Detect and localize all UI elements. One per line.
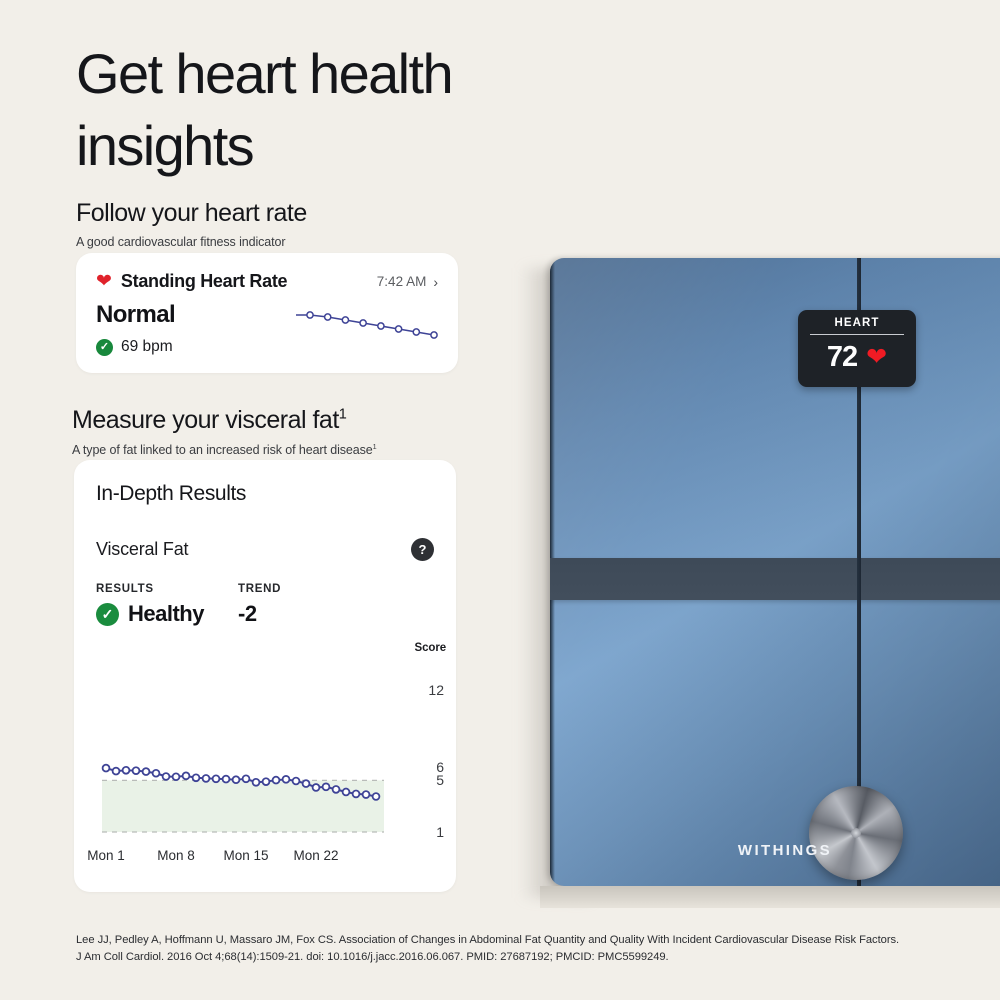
heart-rate-card-meta[interactable]: 7:42 AM ›: [377, 274, 438, 289]
visceral-fat-title-footnote-marker: 1: [339, 407, 347, 423]
heart-rate-card-header: ❤ Standing Heart Rate 7:42 AM ›: [96, 271, 438, 292]
check-circle-icon: ✓: [96, 603, 119, 626]
chart-x-tick: Mon 1: [87, 848, 125, 863]
visceral-fat-result: ✓ Healthy: [96, 601, 238, 627]
chart-x-tick: Mon 8: [157, 848, 195, 863]
visceral-fat-title-text: Measure your visceral fat: [72, 406, 339, 434]
visceral-fat-chart: Score 12 6 5 1 Mon 1 Mon 8 Mon 15 Mon 22: [96, 642, 436, 872]
display-divider: [810, 334, 904, 335]
heart-rate-section: Follow your heart rate A good cardiovasc…: [76, 198, 476, 249]
chart-x-tick: Mon 22: [293, 848, 338, 863]
display-title: HEART: [808, 317, 906, 329]
chart-y-axis-title: Score: [415, 642, 446, 654]
in-depth-results-card[interactable]: In-Depth Results Visceral Fat ? RESULTS …: [74, 460, 456, 892]
visceral-fat-subtitle-footnote-marker: 1: [373, 442, 377, 451]
visceral-fat-metric-name: Visceral Fat: [96, 539, 188, 560]
heart-rate-section-subtitle: A good cardiovascular fitness indicator: [76, 235, 476, 249]
in-depth-results-title: In-Depth Results: [96, 482, 434, 506]
chevron-right-icon[interactable]: ›: [433, 275, 438, 289]
scale-display: HEART 72 ❤: [798, 310, 916, 387]
smart-scale-product-image: HEART 72 ❤ WITHINGS: [500, 0, 1000, 1000]
scale-metal-knob: [809, 786, 903, 880]
help-icon[interactable]: ?: [411, 538, 434, 561]
visceral-fat-section-subtitle: A type of fat linked to an increased ris…: [72, 442, 502, 457]
chart-y-tick: 12: [428, 682, 444, 698]
heart-rate-card-label: Standing Heart Rate: [121, 271, 287, 292]
footnote-line-1: Lee JJ, Pedley A, Hoffmann U, Massaro JM…: [76, 932, 966, 949]
heart-rate-card-body: Normal ✓ 69 bpm: [96, 301, 438, 356]
brand-logo: WITHINGS: [550, 842, 1000, 859]
footnote: Lee JJ, Pedley A, Hoffmann U, Massaro JM…: [76, 932, 966, 967]
results-column-header: RESULTS: [96, 583, 238, 595]
chart-y-tick: 1: [436, 824, 444, 840]
visceral-fat-subtitle-text: A type of fat linked to an increased ris…: [72, 443, 373, 457]
heart-rate-timestamp: 7:42 AM: [377, 274, 427, 289]
visceral-fat-result-value: Healthy: [128, 601, 204, 627]
visceral-fat-column-headers: RESULTS TREND: [96, 583, 434, 595]
trend-column-header: TREND: [238, 583, 281, 595]
visceral-fat-section-title: Measure your visceral fat1: [72, 405, 502, 435]
standing-heart-rate-card[interactable]: ❤ Standing Heart Rate 7:42 AM › Normal ✓…: [76, 253, 458, 373]
display-heart-rate-value: 72: [827, 343, 857, 372]
promo-page: Get heart health insights Follow your he…: [0, 0, 1000, 1000]
heart-rate-sparkline: [296, 305, 444, 352]
visceral-fat-values-row: ✓ Healthy -2: [96, 601, 434, 627]
visceral-fat-metric-row: Visceral Fat ?: [96, 538, 434, 561]
heart-icon: ❤: [866, 345, 887, 370]
check-circle-icon: ✓: [96, 339, 113, 356]
chart-x-axis: Mon 1 Mon 8 Mon 15 Mon 22: [96, 848, 396, 870]
chart-y-tick: 5: [436, 772, 444, 788]
chart-x-tick: Mon 15: [223, 848, 268, 863]
visceral-fat-trend-value: -2: [238, 601, 257, 627]
visceral-fat-section: Measure your visceral fat1 A type of fat…: [72, 405, 502, 457]
footnote-line-2: J Am Coll Cardiol. 2016 Oct 4;68(14):150…: [76, 949, 966, 966]
heart-icon: ❤: [96, 272, 112, 291]
heart-rate-bpm: 69 bpm: [121, 338, 173, 356]
floor-surface: [540, 886, 1000, 908]
knob-center: [851, 828, 861, 838]
scale-horizontal-band: [550, 558, 1000, 600]
chart-plot-area: [96, 642, 396, 842]
display-value-row: 72 ❤: [808, 343, 906, 372]
heart-rate-section-title: Follow your heart rate: [76, 198, 476, 228]
chart-y-axis: Score 12 6 5 1: [400, 642, 446, 842]
scale-body: HEART 72 ❤ WITHINGS: [550, 258, 1000, 886]
